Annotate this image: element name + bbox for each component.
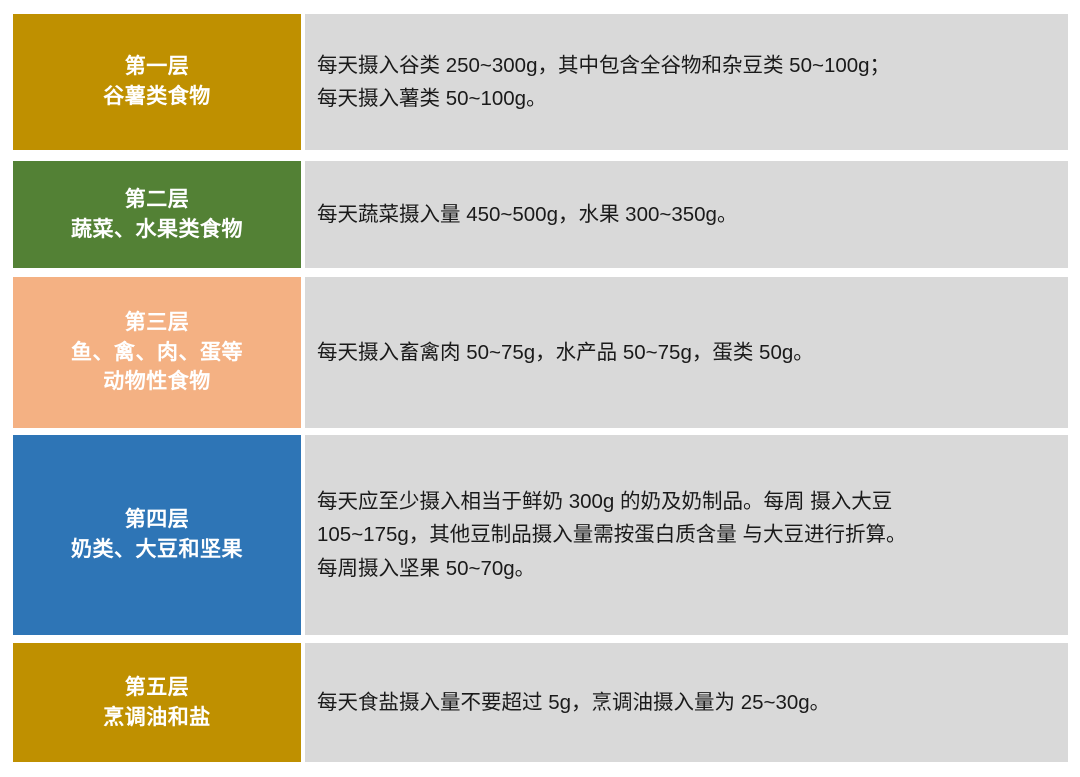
description-line: 每天摄入薯类 50~100g。 bbox=[317, 82, 547, 115]
layer-label-cell-2: 第二层 蔬菜、水果类食物 bbox=[13, 161, 301, 268]
layer-label-line: 谷薯类食物 bbox=[103, 82, 211, 112]
layer-label-line: 蔬菜、水果类食物 bbox=[71, 215, 243, 245]
layer-description-cell-4: 每天应至少摄入相当于鲜奶 300g 的奶及奶制品。每周 摄入大豆 105~175… bbox=[305, 435, 1068, 635]
layer-label-line: 第二层 bbox=[125, 185, 190, 215]
layer-label-line: 第三层 bbox=[125, 308, 190, 338]
layer-description-cell-2: 每天蔬菜摄入量 450~500g，水果 300~350g。 bbox=[305, 161, 1068, 268]
layer-label-line: 第四层 bbox=[125, 505, 190, 535]
table-row: 第二层 蔬菜、水果类食物 每天蔬菜摄入量 450~500g，水果 300~350… bbox=[0, 161, 1080, 268]
layer-label-line: 鱼、禽、肉、蛋等 bbox=[71, 338, 243, 368]
description-line: 每天应至少摄入相当于鲜奶 300g 的奶及奶制品。每周 摄入大豆 bbox=[317, 485, 892, 518]
layer-label-cell-5: 第五层 烹调油和盐 bbox=[13, 643, 301, 762]
layer-label-line: 奶类、大豆和坚果 bbox=[71, 535, 243, 565]
description-line: 每天摄入畜禽肉 50~75g，水产品 50~75g，蛋类 50g。 bbox=[317, 336, 814, 369]
table-row: 第一层 谷薯类食物 每天摄入谷类 250~300g，其中包含全谷物和杂豆类 50… bbox=[0, 14, 1080, 150]
layer-description-cell-3: 每天摄入畜禽肉 50~75g，水产品 50~75g，蛋类 50g。 bbox=[305, 277, 1068, 428]
table-row: 第五层 烹调油和盐 每天食盐摄入量不要超过 5g，烹调油摄入量为 25~30g。 bbox=[0, 643, 1080, 762]
description-line: 105~175g，其他豆制品摄入量需按蛋白质含量 与大豆进行折算。 bbox=[317, 518, 906, 551]
description-line: 每天食盐摄入量不要超过 5g，烹调油摄入量为 25~30g。 bbox=[317, 686, 830, 719]
layer-label-line: 烹调油和盐 bbox=[103, 703, 211, 733]
layer-label-line: 动物性食物 bbox=[103, 367, 211, 397]
layer-description-cell-1: 每天摄入谷类 250~300g，其中包含全谷物和杂豆类 50~100g； 每天摄… bbox=[305, 14, 1068, 150]
table-row: 第四层 奶类、大豆和坚果 每天应至少摄入相当于鲜奶 300g 的奶及奶制品。每周… bbox=[0, 435, 1080, 635]
nutrition-pyramid-table: 第一层 谷薯类食物 每天摄入谷类 250~300g，其中包含全谷物和杂豆类 50… bbox=[0, 0, 1080, 777]
layer-label-line: 第五层 bbox=[125, 673, 190, 703]
table-row: 第三层 鱼、禽、肉、蛋等 动物性食物 每天摄入畜禽肉 50~75g，水产品 50… bbox=[0, 277, 1080, 428]
layer-label-cell-1: 第一层 谷薯类食物 bbox=[13, 14, 301, 150]
layer-label-cell-4: 第四层 奶类、大豆和坚果 bbox=[13, 435, 301, 635]
description-line: 每天摄入谷类 250~300g，其中包含全谷物和杂豆类 50~100g； bbox=[317, 49, 890, 82]
description-line: 每天蔬菜摄入量 450~500g，水果 300~350g。 bbox=[317, 198, 737, 231]
description-line: 每周摄入坚果 50~70g。 bbox=[317, 552, 535, 585]
layer-description-cell-5: 每天食盐摄入量不要超过 5g，烹调油摄入量为 25~30g。 bbox=[305, 643, 1068, 762]
layer-label-cell-3: 第三层 鱼、禽、肉、蛋等 动物性食物 bbox=[13, 277, 301, 428]
layer-label-line: 第一层 bbox=[125, 52, 190, 82]
